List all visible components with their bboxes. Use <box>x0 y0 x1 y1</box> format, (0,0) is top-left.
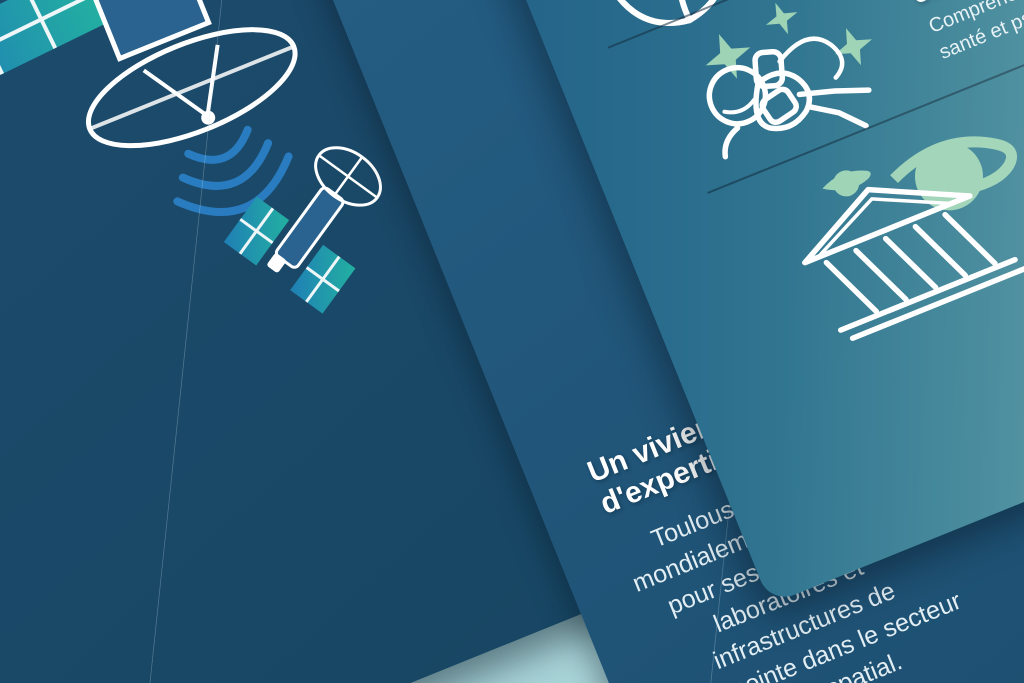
brochure-mockup-stage: excelle njeux sociét <box>0 0 1024 683</box>
stat-caption-1-line-2: u Sud-Ouest. <box>0 653 2 683</box>
